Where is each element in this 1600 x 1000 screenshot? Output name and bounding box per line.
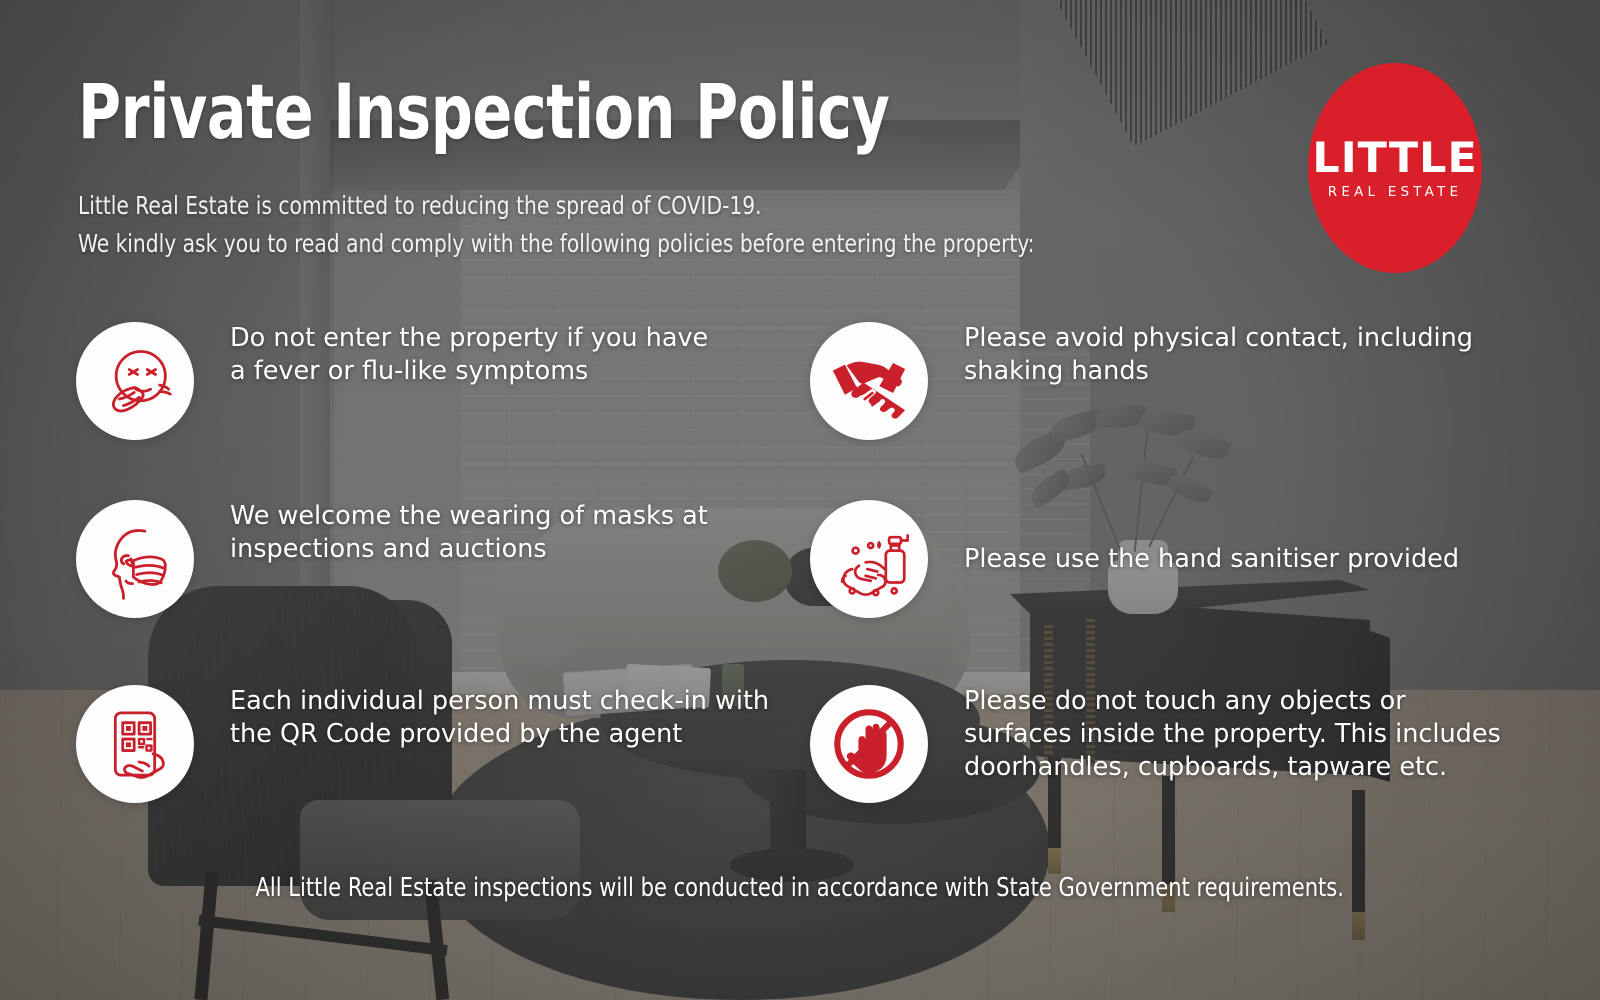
policy-item-no-physical-contact: Please avoid physical contact, including… (810, 322, 1473, 440)
policy-line: inspections and auctions (230, 533, 708, 566)
footer-note: All Little Real Estate inspections will … (0, 873, 1600, 903)
page-title: Private Inspection Policy (78, 74, 889, 150)
policy-item-masks-welcome: We welcome the wearing of masks at inspe… (76, 500, 708, 618)
page-subtitle: Little Real Estate is committed to reduc… (78, 187, 1140, 263)
policy-line: We welcome the wearing of masks at (230, 500, 708, 533)
policy-line: Please do not touch any objects or (964, 685, 1501, 718)
policy-line: Please use the hand sanitiser provided (964, 543, 1459, 576)
policy-line: surfaces inside the property. This inclu… (964, 718, 1501, 751)
policy-text: Please do not touch any objects or surfa… (928, 685, 1501, 784)
little-real-estate-logo: LITTLE REAL ESTATE (1308, 63, 1482, 273)
policy-item-no-entry-if-unwell: Do not enter the property if you have a … (76, 322, 708, 440)
poster-content: Private Inspection Policy Little Real Es… (0, 0, 1600, 1000)
policy-item-qr-checkin: Each individual person must check-in wit… (76, 685, 769, 803)
policy-line: Please avoid physical contact, including (964, 322, 1473, 355)
policy-line: the QR Code provided by the agent (230, 718, 769, 751)
private-inspection-policy-poster: Private Inspection Policy Little Real Es… (0, 0, 1600, 1000)
logo-wordmark: LITTLE (1312, 137, 1477, 179)
policy-line: doorhandles, cupboards, tapware etc. (964, 751, 1501, 784)
policy-line: shaking hands (964, 355, 1473, 388)
policy-item-hand-sanitiser: Please use the hand sanitiser provided (810, 500, 1459, 618)
logo-tagline: REAL ESTATE (1328, 186, 1462, 200)
subtitle-line-2: We kindly ask you to read and comply wit… (78, 225, 1140, 263)
sneezing-face-icon (76, 322, 194, 440)
subtitle-line-1: Little Real Estate is committed to reduc… (78, 187, 1140, 225)
policy-text: We welcome the wearing of masks at inspe… (194, 500, 708, 566)
policy-text: Each individual person must check-in wit… (194, 685, 769, 751)
footer-text: All Little Real Estate inspections will … (256, 873, 1344, 903)
hand-sanitiser-icon (810, 500, 928, 618)
policy-line: Each individual person must check-in wit… (230, 685, 769, 718)
no-touch-icon (810, 685, 928, 803)
qr-code-phone-icon (76, 685, 194, 803)
policy-text: Please avoid physical contact, including… (928, 322, 1473, 388)
policy-item-no-touching: Please do not touch any objects or surfa… (810, 685, 1501, 803)
handshake-icon (810, 322, 928, 440)
policy-line: Do not enter the property if you have (230, 322, 708, 355)
policy-line: a fever or flu-like symptoms (230, 355, 708, 388)
policy-text: Do not enter the property if you have a … (194, 322, 708, 388)
face-mask-icon (76, 500, 194, 618)
policy-text: Please use the hand sanitiser provided (928, 543, 1459, 576)
